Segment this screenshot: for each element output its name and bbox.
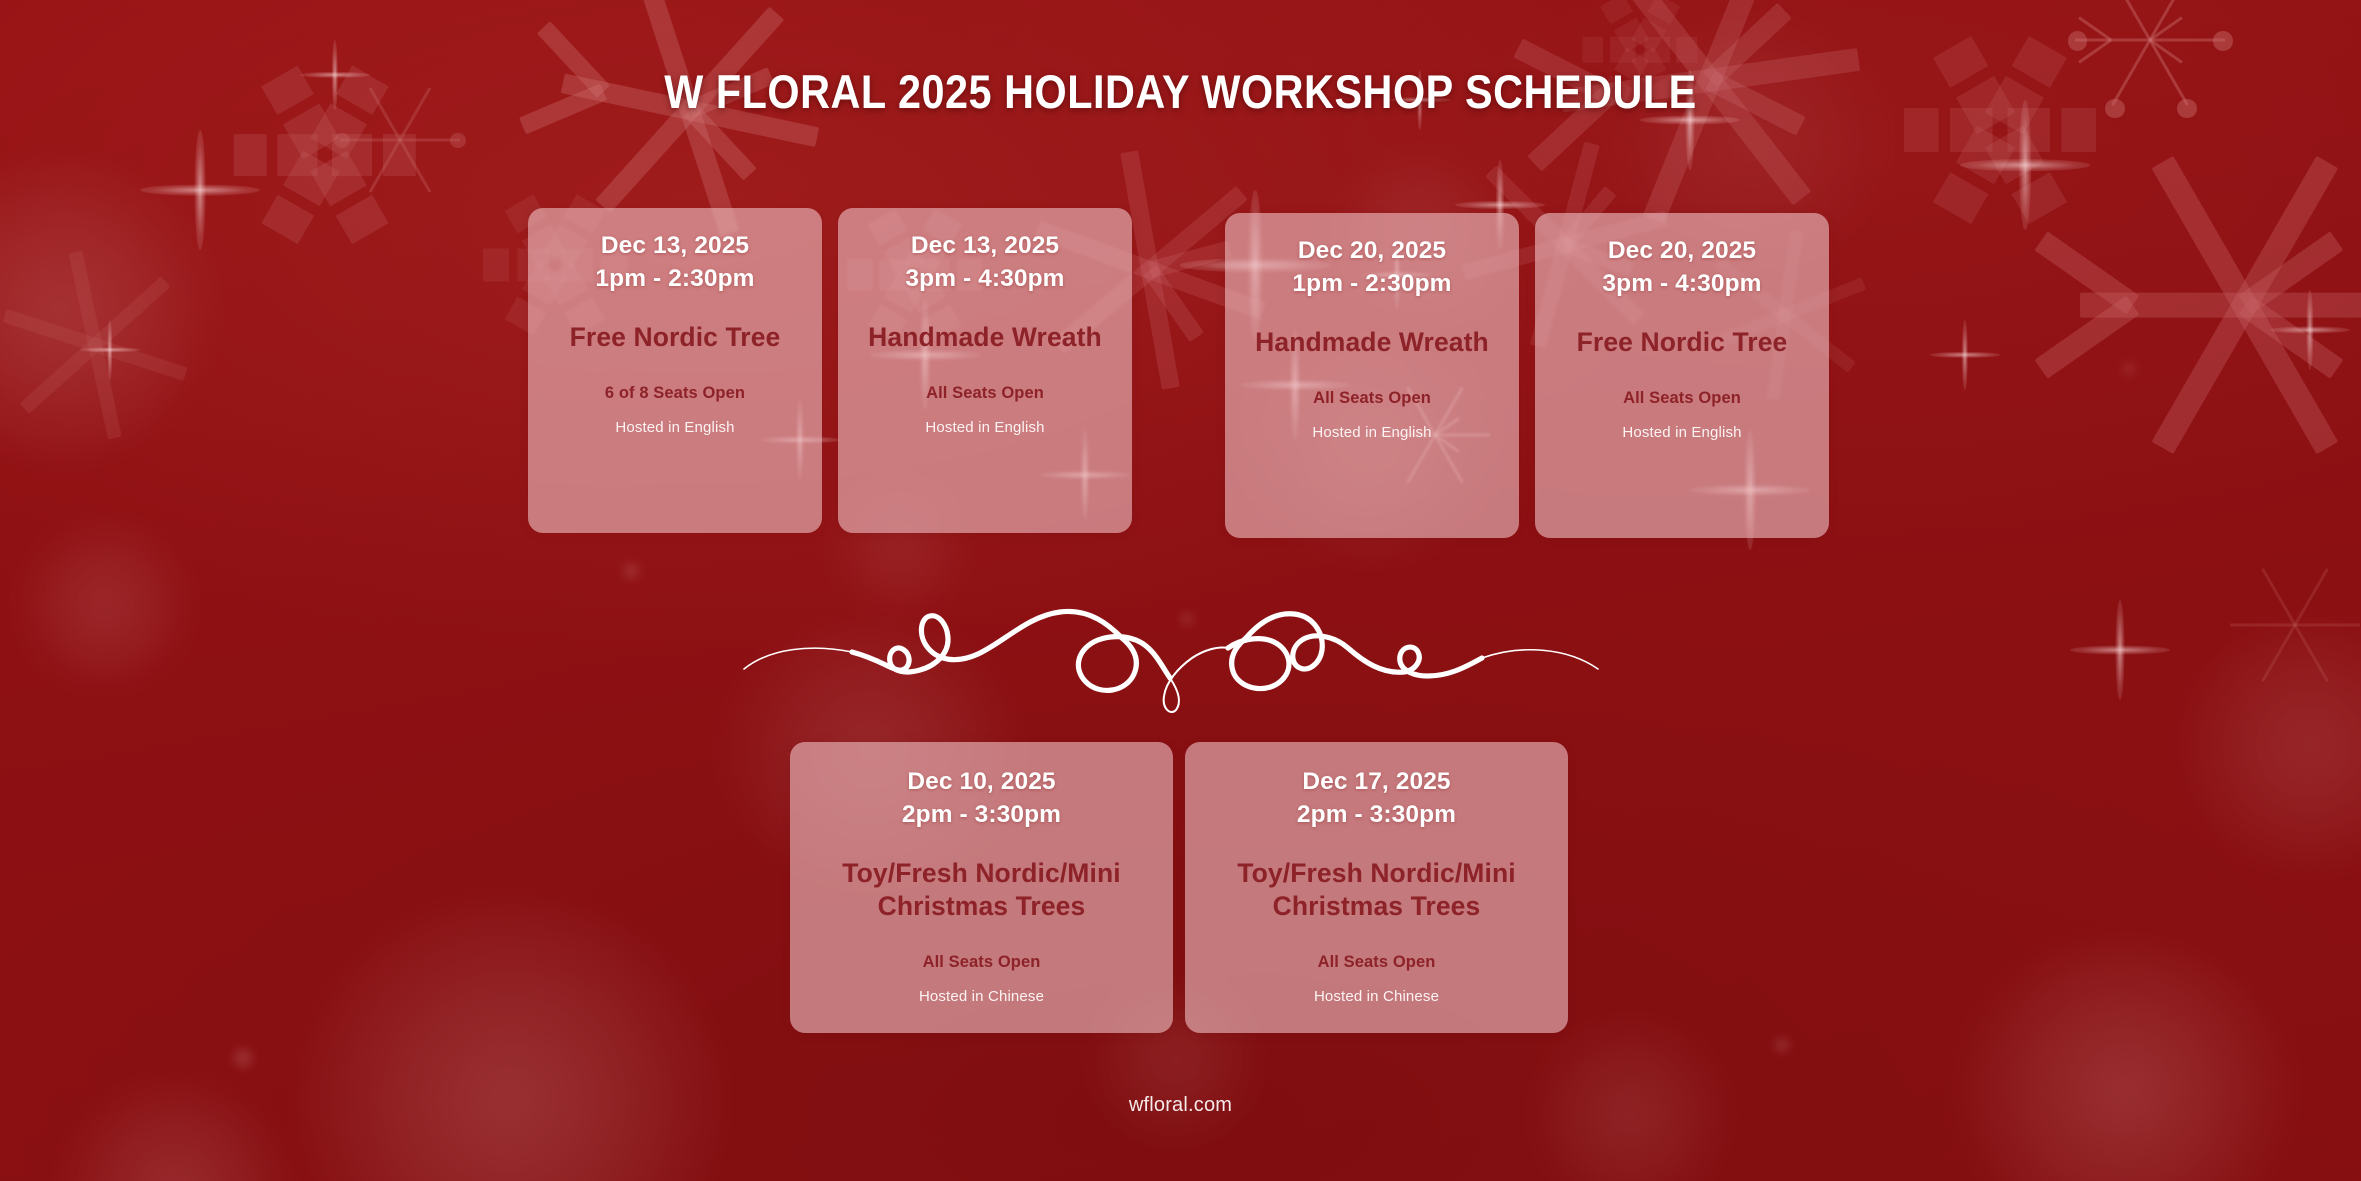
workshop-name: Toy/Fresh Nordic/Mini Christmas Trees xyxy=(808,857,1155,923)
bokeh-glow xyxy=(1960,940,2290,1181)
poster-canvas: W Floral 2025 Holiday Workshop Schedule … xyxy=(0,0,2361,1181)
sparkle-star-icon xyxy=(2070,600,2170,700)
bokeh-dot xyxy=(1772,1035,1792,1055)
workshop-name: Free Nordic Tree xyxy=(546,321,804,354)
snowflake-icon xyxy=(1541,0,1880,249)
snowflake-icon xyxy=(0,225,215,464)
workshop-language: Hosted in English xyxy=(856,419,1114,436)
snowflake-icon xyxy=(2230,560,2360,690)
workshop-language: Hosted in English xyxy=(1243,424,1501,441)
workshop-date: Dec 13, 2025 xyxy=(546,230,804,263)
workshop-time: 3pm - 4:30pm xyxy=(1553,268,1811,301)
bokeh-glow xyxy=(20,520,190,690)
bokeh-glow xyxy=(300,900,720,1181)
bokeh-dot xyxy=(2120,360,2138,378)
workshop-card[interactable]: Dec 10, 2025 2pm - 3:30pm Toy/Fresh Nord… xyxy=(790,742,1173,1033)
workshop-date: Dec 20, 2025 xyxy=(1243,235,1501,268)
workshop-time: 1pm - 2:30pm xyxy=(546,263,804,296)
workshop-card[interactable]: Dec 17, 2025 2pm - 3:30pm Toy/Fresh Nord… xyxy=(1185,742,1568,1033)
workshop-seats: 6 of 8 Seats Open xyxy=(546,384,804,403)
workshop-language: Hosted in English xyxy=(546,419,804,436)
snowflake-icon xyxy=(2080,140,2361,470)
workshop-language: Hosted in Chinese xyxy=(808,988,1155,1005)
workshop-name: Free Nordic Tree xyxy=(1553,326,1811,359)
workshop-date: Dec 20, 2025 xyxy=(1553,235,1811,268)
workshop-card[interactable]: Dec 13, 2025 1pm - 2:30pm Free Nordic Tr… xyxy=(528,208,822,533)
workshop-seats: All Seats Open xyxy=(1553,389,1811,408)
workshop-seats: All Seats Open xyxy=(856,384,1114,403)
workshop-name: Handmade Wreath xyxy=(1243,326,1501,359)
workshop-seats: All Seats Open xyxy=(1203,953,1550,972)
workshop-time: 2pm - 3:30pm xyxy=(1203,799,1550,832)
sparkle-star-icon xyxy=(1930,320,2000,390)
snowflake-icon xyxy=(1900,30,2100,230)
workshop-name: Handmade Wreath xyxy=(856,321,1114,354)
bokeh-dot xyxy=(230,1045,256,1071)
workshop-time: 3pm - 4:30pm xyxy=(856,263,1114,296)
sparkle-star-icon xyxy=(140,130,260,250)
workshop-date: Dec 10, 2025 xyxy=(808,766,1155,799)
swirl-flourish-divider xyxy=(742,590,1602,715)
workshop-seats: All Seats Open xyxy=(1243,389,1501,408)
workshop-card[interactable]: Dec 13, 2025 3pm - 4:30pm Handmade Wreat… xyxy=(838,208,1132,533)
workshop-card[interactable]: Dec 20, 2025 3pm - 4:30pm Free Nordic Tr… xyxy=(1535,213,1829,538)
bokeh-glow xyxy=(0,160,210,460)
page-title: W Floral 2025 Holiday Workshop Schedule xyxy=(142,64,2220,119)
workshop-time: 2pm - 3:30pm xyxy=(808,799,1155,832)
workshop-name: Toy/Fresh Nordic/Mini Christmas Trees xyxy=(1203,857,1550,923)
workshop-date: Dec 13, 2025 xyxy=(856,230,1114,263)
sparkle-star-icon xyxy=(1960,100,2090,230)
bokeh-dot xyxy=(620,560,642,582)
sparkle-star-icon xyxy=(2270,290,2350,370)
workshop-language: Hosted in Chinese xyxy=(1203,988,1550,1005)
workshop-date: Dec 17, 2025 xyxy=(1203,766,1550,799)
bokeh-glow xyxy=(2180,620,2361,870)
workshop-time: 1pm - 2:30pm xyxy=(1243,268,1501,301)
footer-website-url[interactable]: wfloral.com xyxy=(0,1094,2361,1117)
workshop-seats: All Seats Open xyxy=(808,953,1155,972)
workshop-card[interactable]: Dec 20, 2025 1pm - 2:30pm Handmade Wreat… xyxy=(1225,213,1519,538)
workshop-language: Hosted in English xyxy=(1553,424,1811,441)
sparkle-star-icon xyxy=(80,320,140,380)
